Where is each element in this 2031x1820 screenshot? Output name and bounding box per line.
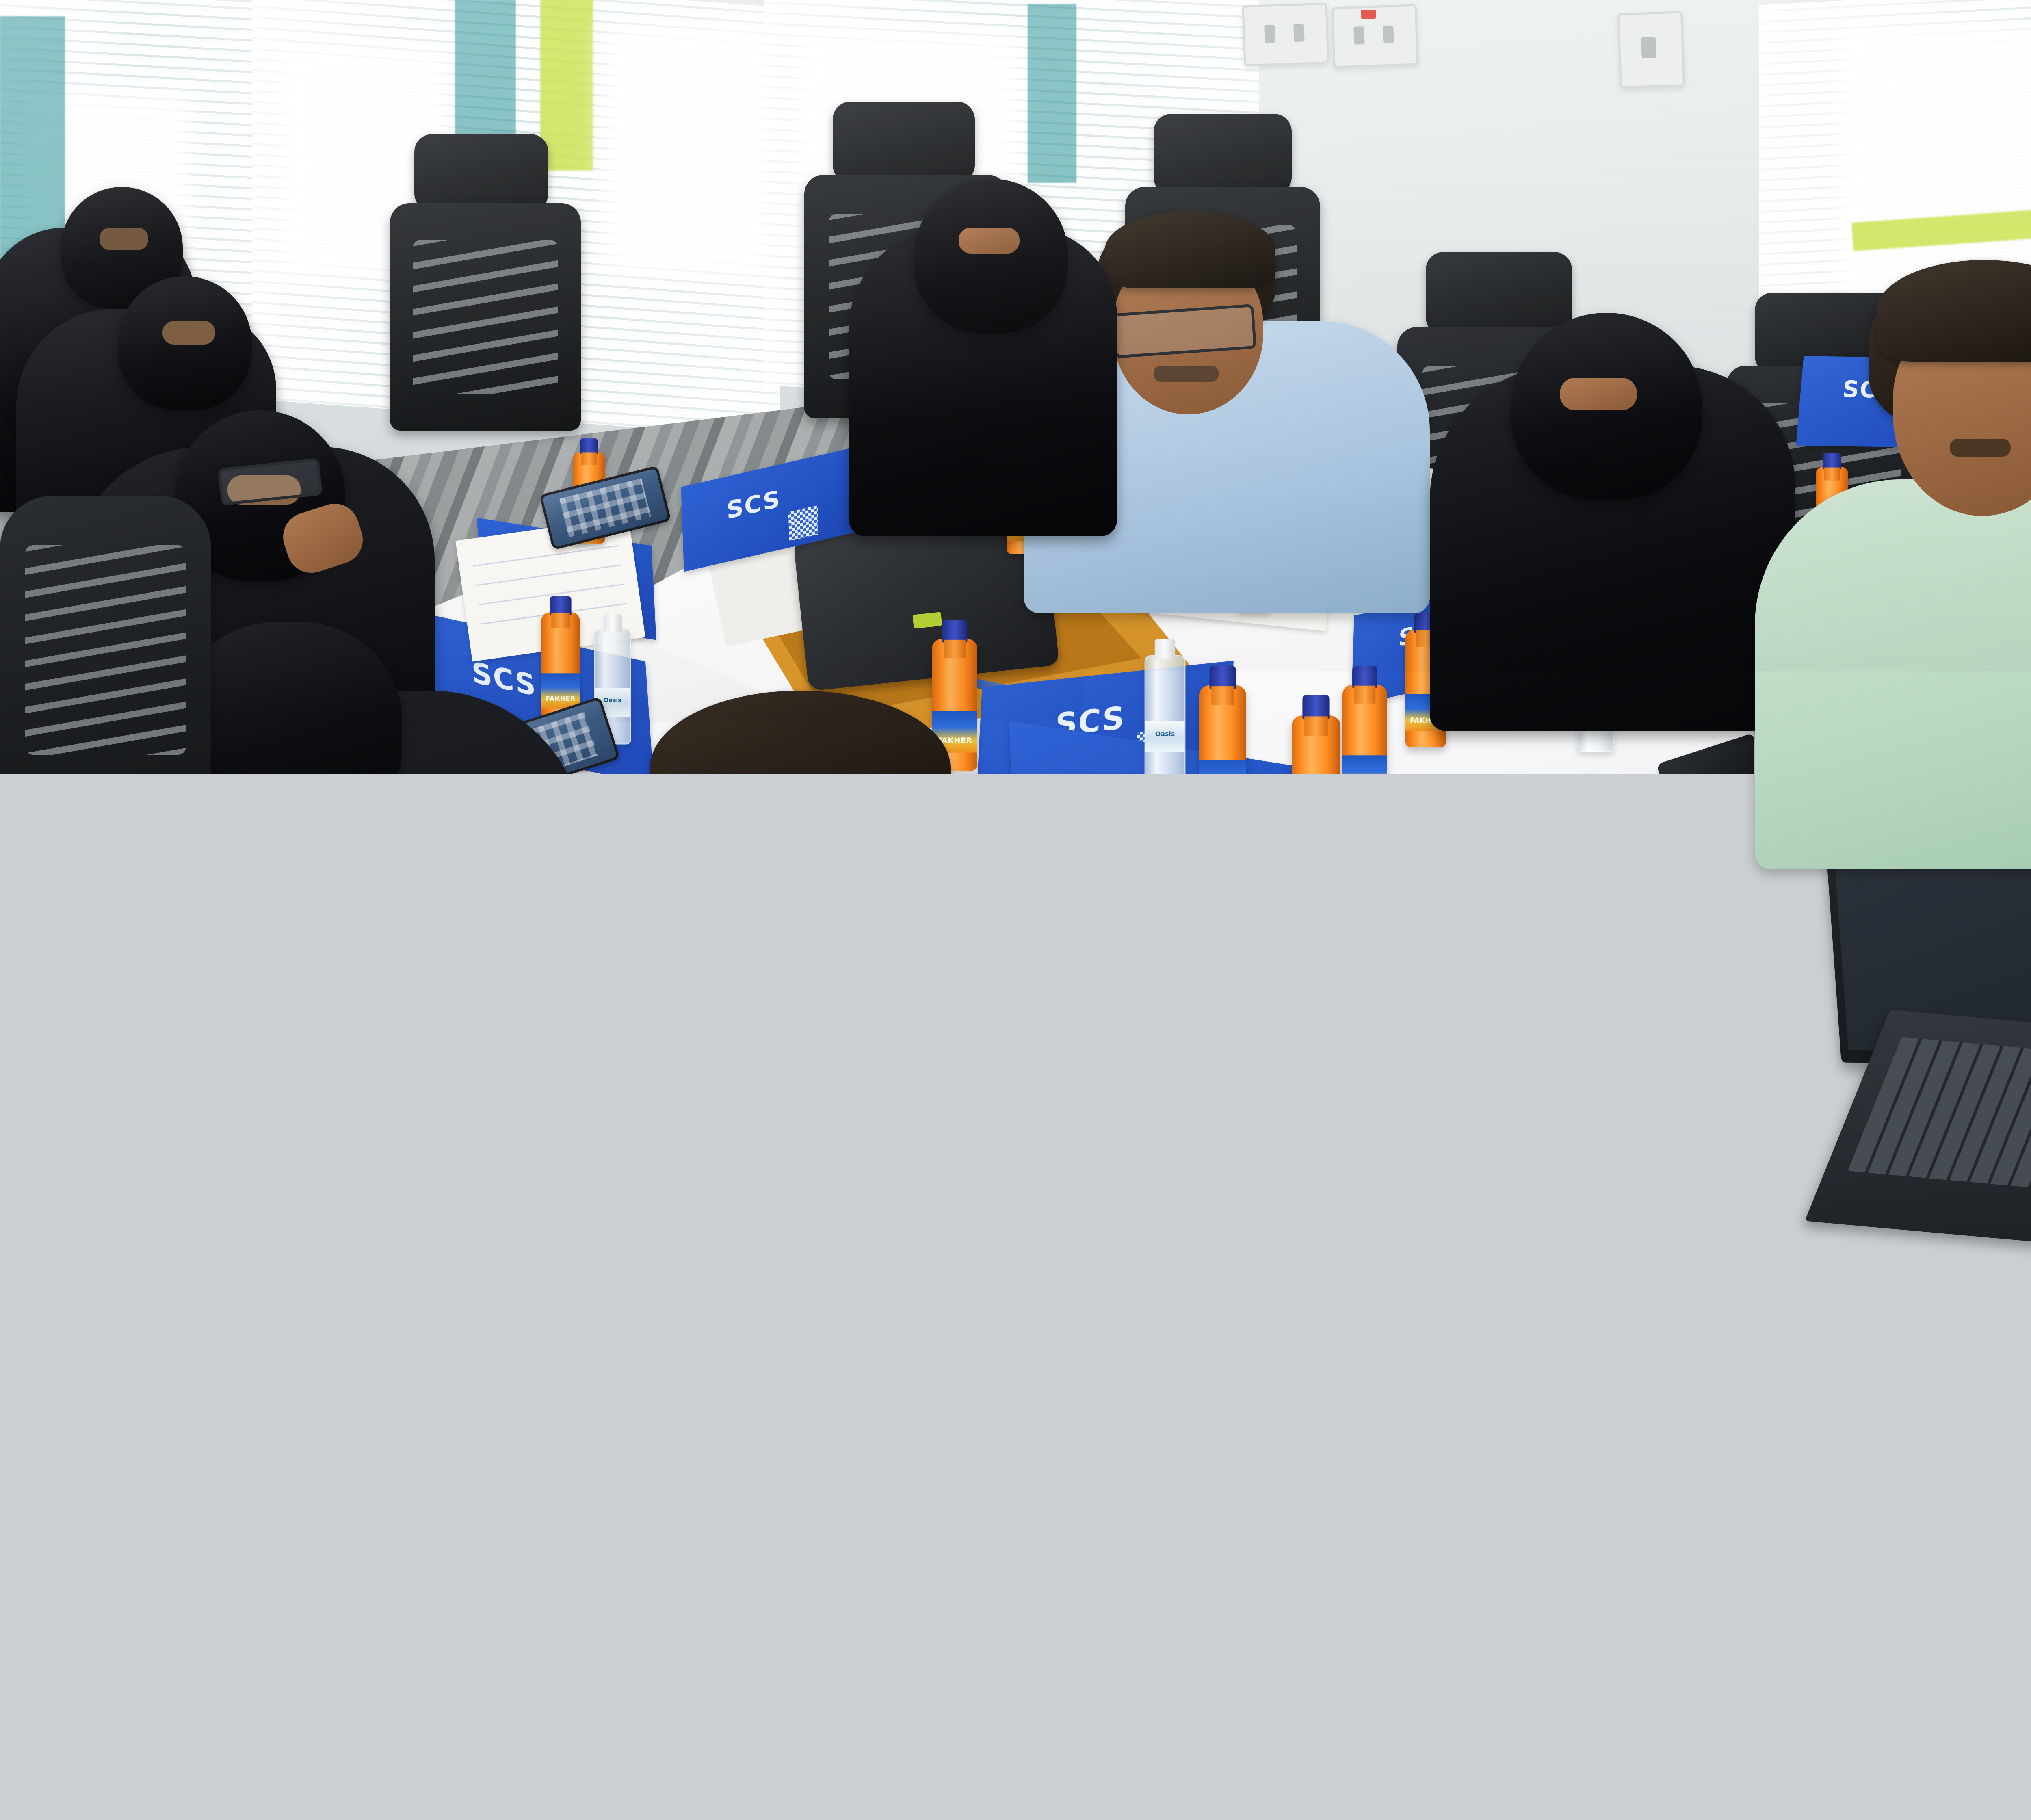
title-plate: اجتماع كتلة حماية الطفل محور حضرموت <box>1290 1458 2031 1641</box>
logo-arabic-name: جمعية رعاية طالب العلم <box>157 1697 421 1721</box>
people-icon <box>302 1604 316 1621</box>
chair-wheel <box>24 788 51 815</box>
graduation-cap-icon <box>235 1540 344 1578</box>
office-chair <box>366 134 593 467</box>
organization-slogan: لنصنع مجتمع المعرفة <box>556 1684 812 1718</box>
chair-wheel <box>102 1170 128 1197</box>
water-bottle: Oasis <box>1145 655 1186 783</box>
website-url[interactable]: www.scs-ye.org <box>565 1603 843 1636</box>
outlet-indicator-light <box>1361 10 1376 19</box>
window-light <box>601 24 772 276</box>
window-teal-reflection <box>1028 4 1076 183</box>
chair-wheel <box>422 1304 449 1331</box>
smartphone <box>1316 894 1434 1097</box>
poster-root: SCS SCS SCS SCS SCS SCS SCS SCS <box>0 0 2031 1820</box>
people-icon <box>262 1603 276 1621</box>
poster-banner: اجتماع كتلة حماية الطفل محور حضرموت حضرم… <box>0 1462 2031 1820</box>
logo-english-name: Student Care Society <box>157 1722 421 1743</box>
scs-logo: S S جمعية رعاية طالب العلم Stu <box>175 1544 402 1735</box>
power-outlet <box>1242 2 1329 66</box>
logo-letter-s-right: S <box>309 1586 382 1688</box>
orange-soda-bottle: FAKHER <box>1199 685 1246 822</box>
meeting-photo: SCS SCS SCS SCS SCS SCS SCS SCS <box>0 0 2031 1462</box>
chair-wheel <box>219 1243 246 1270</box>
gear-icon <box>249 1630 310 1691</box>
office-chair <box>0 496 284 983</box>
orange-soda-bottle: FAKHER <box>1342 685 1387 815</box>
cable-grommet <box>1690 873 1720 903</box>
event-title: اجتماع كتلة حماية الطفل محور حضرموت <box>1290 1458 2031 1641</box>
light-switch <box>1617 11 1685 88</box>
orange-soda-bottle: FAKHER <box>1292 715 1340 857</box>
people-icon <box>282 1599 296 1616</box>
logo-letter-s-left: S <box>171 1586 245 1688</box>
